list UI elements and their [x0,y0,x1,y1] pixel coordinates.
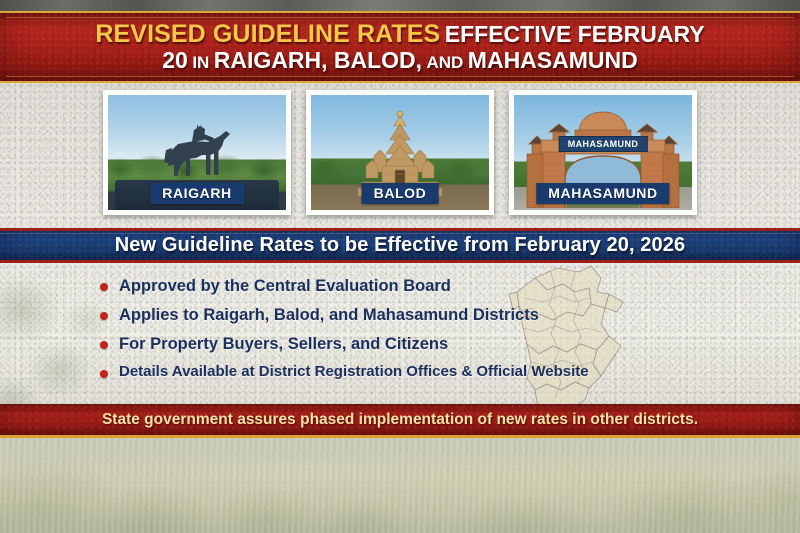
district-photo-cards: RAIGARH [103,90,697,215]
title-highlight: REVISED GUIDELINE RATES [95,20,440,48]
list-item-label: Details Available at District Registrati… [119,363,589,381]
list-item-label: Approved by the Central Evaluation Board [119,276,451,296]
district-card-mahasamund[interactable]: MAHASAMUND MAHASAMUND [509,90,697,215]
title-line-2: 20 IN RAIGARH, BALOD, AND MAHASAMUND [162,48,637,73]
title-district-last: MAHASAMUND [468,47,638,73]
background-landscape-photo [0,438,800,533]
footer-note-banner: State government assures phased implemen… [0,404,800,438]
card-caption-balod: BALOD [362,183,439,204]
list-item: For Property Buyers, Sellers, and Citize… [100,334,660,354]
infographic-poster: REVISED GUIDELINE RATES EFFECTIVE FEBRUA… [0,0,800,533]
title-line-1: REVISED GUIDELINE RATES EFFECTIVE FEBRUA… [95,21,704,48]
bullet-dot-icon [100,370,108,378]
equestrian-statue-icon [148,122,246,180]
title-preposition-in: IN [192,53,209,72]
mahasamund-welcome-gate-photo: MAHASAMUND MAHASAMUND [514,95,692,210]
gate-name-plate: MAHASAMUND [559,136,648,152]
raigarh-equestrian-statue-photo: RAIGARH [108,95,286,210]
title-banner: REVISED GUIDELINE RATES EFFECTIVE FEBRUA… [0,11,800,83]
footer-note-text: State government assures phased implemen… [102,411,698,429]
title-rest: EFFECTIVE FEBRUARY [445,21,705,47]
title-day-number: 20 [162,47,188,73]
list-item: Details Available at District Registrati… [100,363,660,381]
bullet-dot-icon [100,341,108,349]
bullet-dot-icon [100,283,108,291]
district-card-balod[interactable]: BALOD [306,90,494,215]
subheading-text: New Guideline Rates to be Effective from… [115,234,685,257]
list-item: Approved by the Central Evaluation Board [100,276,660,296]
key-points-list: Approved by the Central Evaluation Board… [100,276,660,391]
district-card-raigarh[interactable]: RAIGARH [103,90,291,215]
list-item-label: Applies to Raigarh, Balod, and Mahasamun… [119,305,539,325]
subheading-banner: New Guideline Rates to be Effective from… [0,228,800,263]
card-caption-mahasamund: MAHASAMUND [536,183,669,204]
bullet-dot-icon [100,312,108,320]
title-districts: RAIGARH, BALOD, [214,47,422,73]
title-conjunction-and: AND [427,53,464,72]
card-caption-raigarh: RAIGARH [150,183,244,204]
balod-temple-photo: BALOD [311,95,489,210]
poster-title: REVISED GUIDELINE RATES EFFECTIVE FEBRUA… [0,13,800,81]
list-item: Applies to Raigarh, Balod, and Mahasamun… [100,305,660,325]
list-item-label: For Property Buyers, Sellers, and Citize… [119,334,448,354]
